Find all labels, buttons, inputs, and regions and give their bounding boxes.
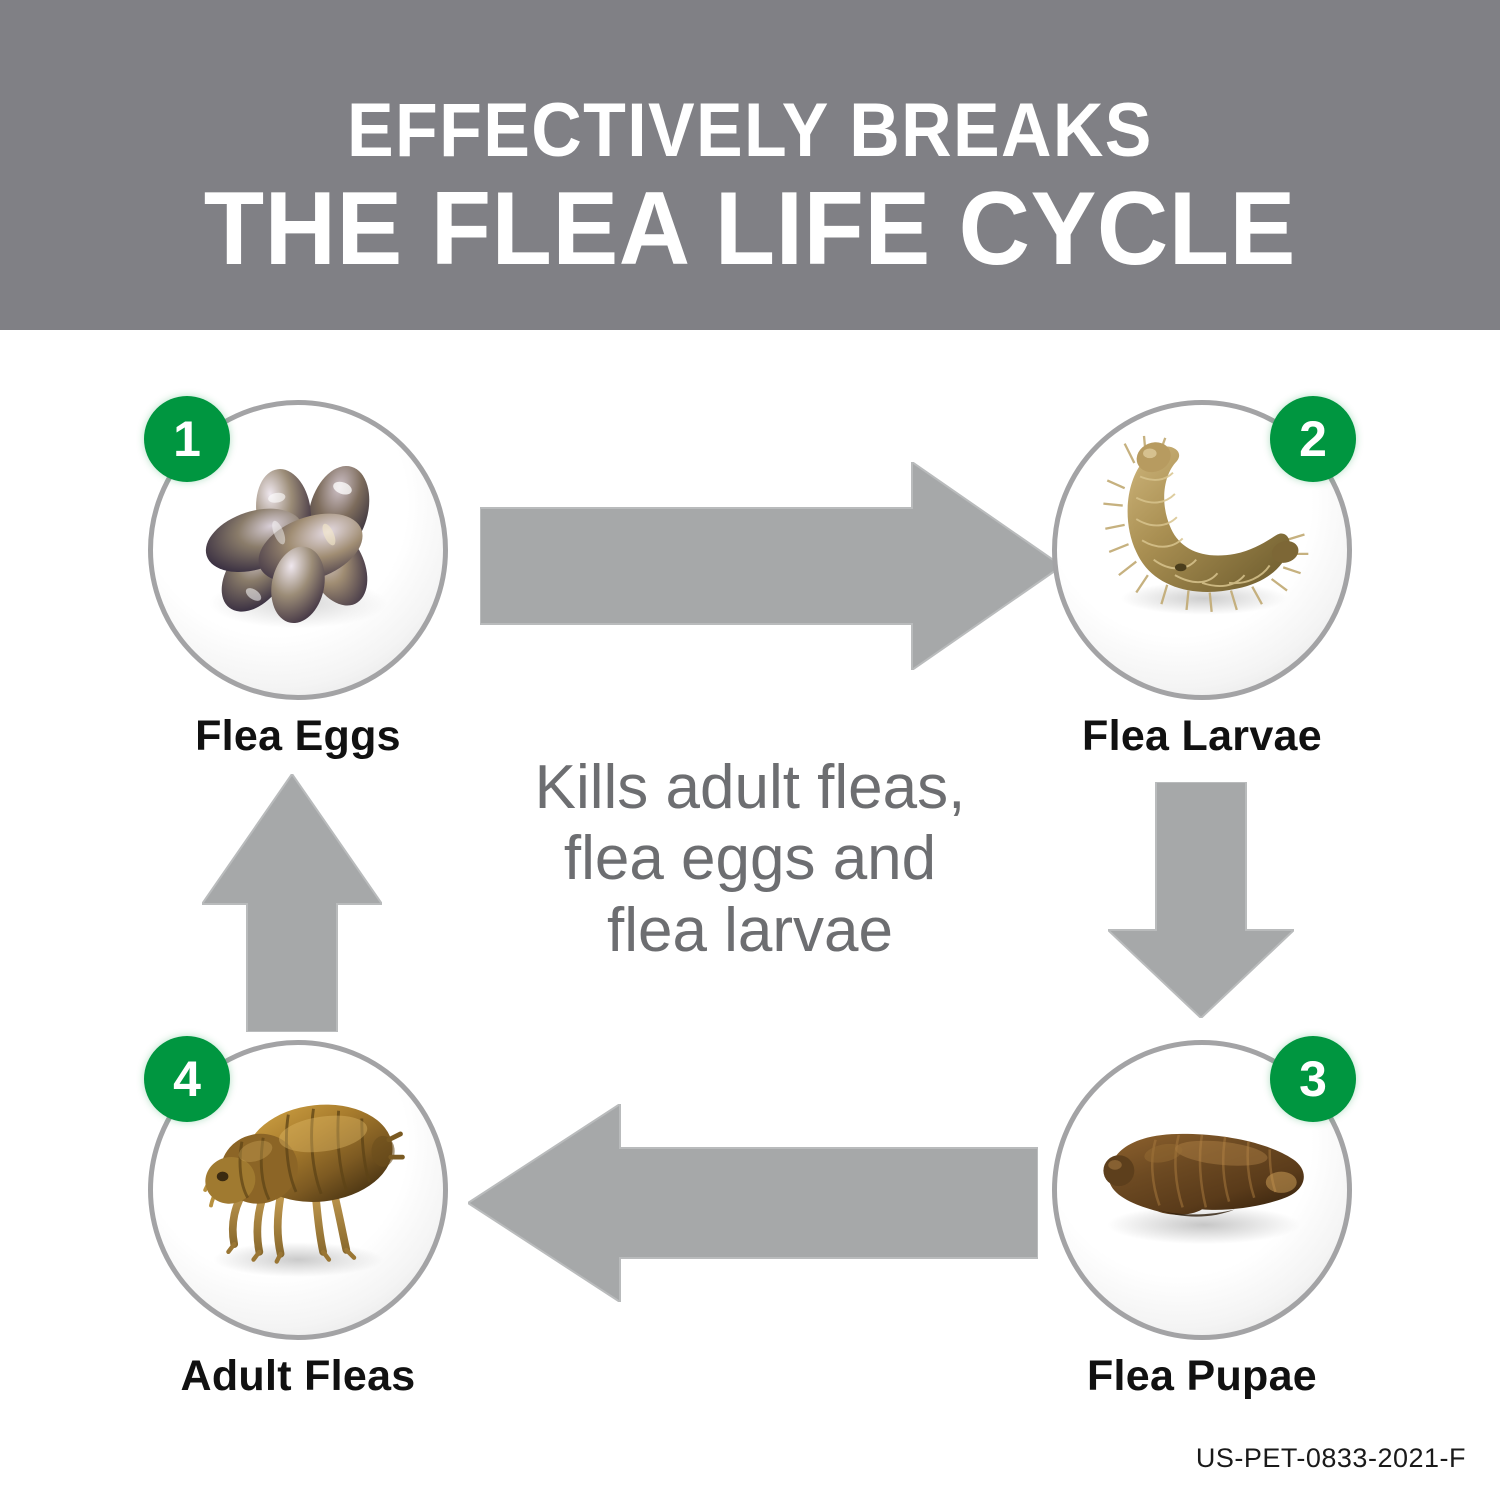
header-title-line2: THE FLEA LIFE CYCLE	[204, 175, 1296, 284]
stage-number: 1	[173, 410, 201, 468]
stage-number-badge: 1	[144, 396, 230, 482]
stage-number: 4	[173, 1050, 201, 1108]
header-title-line1: EFFECTIVELY BREAKS	[347, 93, 1153, 169]
stage-number-badge: 2	[1270, 396, 1356, 482]
stage-number: 3	[1299, 1050, 1327, 1108]
stage-number-badge: 4	[144, 1036, 230, 1122]
stage-number: 2	[1299, 410, 1327, 468]
stage-label-adult-fleas: Adult Fleas	[88, 1352, 508, 1401]
header-banner: EFFECTIVELY BREAKS THE FLEA LIFE CYCLE	[0, 0, 1500, 330]
stage-adult-fleas[interactable]: 4 Adult Fleas	[148, 1040, 448, 1340]
infographic-page: EFFECTIVELY BREAKS THE FLEA LIFE CYCLE	[0, 0, 1500, 1500]
stage-number-badge: 3	[1270, 1036, 1356, 1122]
stage-flea-pupae[interactable]: 3 Flea Pupae	[1052, 1040, 1352, 1340]
stage-label-flea-pupae: Flea Pupae	[992, 1352, 1412, 1401]
center-message-line2: flea eggs and	[400, 823, 1100, 894]
center-message-line3: flea larvae	[400, 895, 1100, 966]
arrow-eggs-to-larvae	[480, 462, 1062, 670]
arrow-pupae-to-adult	[468, 1104, 1038, 1302]
center-message-line1: Kills adult fleas,	[400, 752, 1100, 823]
stage-flea-eggs[interactable]: 1 Flea Eggs	[148, 400, 448, 700]
footer-reference-code: US-PET-0833-2021-F	[1196, 1443, 1466, 1474]
stage-flea-larvae[interactable]: 2 Flea Larvae	[1052, 400, 1352, 700]
center-message: Kills adult fleas, flea eggs and flea la…	[400, 752, 1100, 966]
arrow-larvae-to-pupae	[1108, 782, 1294, 1018]
arrow-adult-to-eggs	[202, 774, 382, 1032]
